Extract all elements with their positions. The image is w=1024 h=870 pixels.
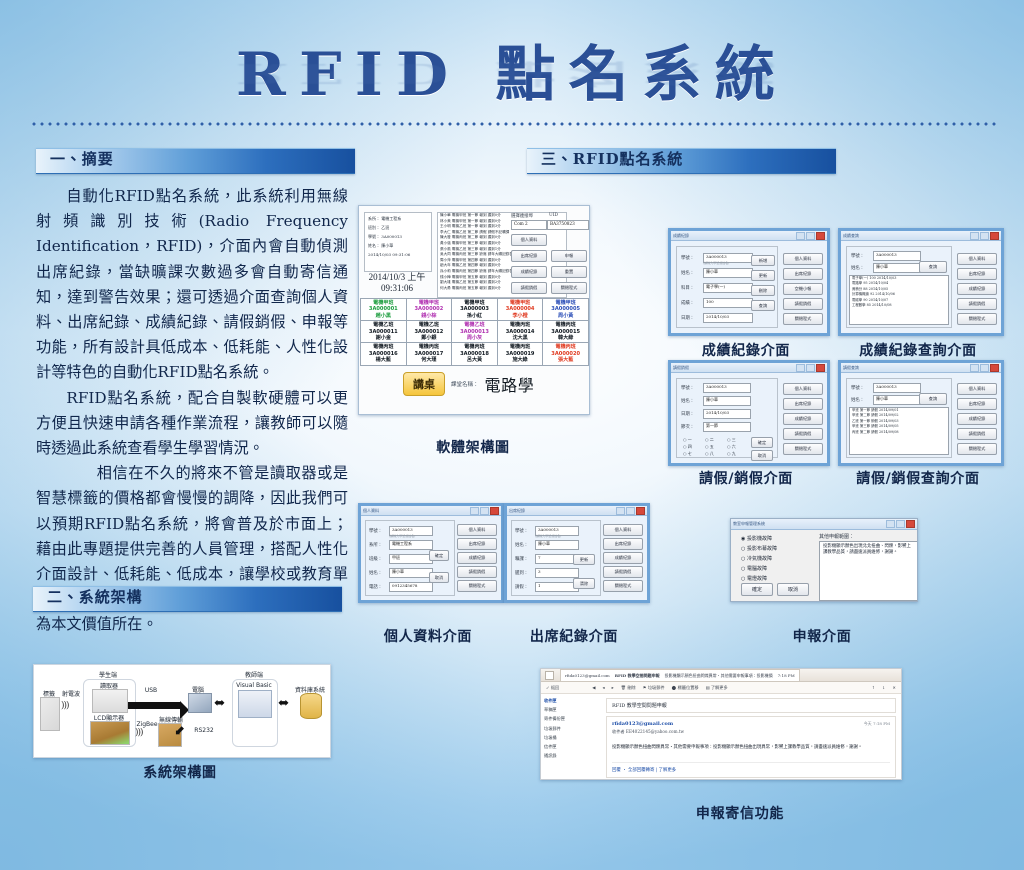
- dialog-button[interactable]: 關閉程式: [457, 580, 497, 592]
- field-label: 班級：: [369, 556, 382, 562]
- field-label: 曠課：: [515, 556, 528, 562]
- arch-label-student-side: 學生端: [84, 670, 132, 679]
- port-value: Com 2: [514, 221, 528, 226]
- mail-received: 今天 7:18 PM: [864, 721, 890, 727]
- dialog-button[interactable]: 個人資料: [603, 524, 643, 536]
- maximize-icon: [480, 507, 489, 515]
- field-label: 學號：: [851, 385, 864, 391]
- new-tab-icon[interactable]: [545, 671, 554, 680]
- result-row: 丙班 第二節 請假 2014/09/08: [850, 430, 948, 435]
- field-hint: (請輸入學號或姓名): [389, 534, 415, 538]
- field-hint: (請輸入學號或姓名): [535, 534, 561, 538]
- student-card[interactable]: 電機乙班3A000012鄭小銀: [407, 321, 453, 343]
- field-label: 姓名：: [369, 570, 382, 576]
- field-label: 學號：: [515, 528, 528, 534]
- back-button[interactable]: ↙ 返回: [546, 685, 559, 691]
- mail-sidebar[interactable]: 收件匣草稿匣寄件備份匣垃圾郵件垃圾桶信件匣通訊錄: [541, 694, 601, 780]
- report-option[interactable]: ◉ 投影機故障: [741, 535, 772, 542]
- dialog-button[interactable]: 出席紀錄: [783, 398, 823, 410]
- dialog-button[interactable]: 清除: [573, 578, 595, 589]
- dialog-button[interactable]: 空機小報: [783, 283, 823, 295]
- mail-tabbar: rfida0123@gmail.com RFID 教學空間問題申報 投影機顯示顏…: [541, 669, 901, 682]
- radio-option[interactable]: ○ 五: [705, 444, 714, 450]
- uid-field: BA3750823: [547, 220, 589, 230]
- student-card-line: 李小橙: [498, 313, 543, 319]
- field-label: 系所：: [369, 542, 382, 548]
- report-titlebar: 教室申報管理系統: [731, 519, 917, 530]
- report-cancel-button[interactable]: 取消: [777, 583, 809, 596]
- student-card[interactable]: 電機丙班3A000020張大藍: [543, 343, 589, 365]
- field-input[interactable]: 陳小華: [873, 395, 921, 405]
- caption-personal-data: 個人資料介面: [368, 626, 488, 646]
- radio-option[interactable]: ○ 四: [683, 444, 692, 450]
- rfid-tag-image: [40, 697, 60, 731]
- student-card[interactable]: 電機丙班3A000017何大瑾: [407, 343, 453, 365]
- mail-sidebar-item[interactable]: 寄件備份匣: [544, 716, 598, 722]
- mail-toolbar: ↙ 返回 ◀ ◂ ▸ 🗑 刪除 ⚑ 垃圾郵件 ⬤ 標籤位置移 ▤ 了解更多 ↑ …: [541, 682, 901, 694]
- dialog-button[interactable]: 出席紀錄: [957, 268, 997, 280]
- field-label: 學號：: [851, 253, 864, 259]
- dialog-button[interactable]: 新增: [751, 255, 775, 266]
- dialog-button[interactable]: 成績紀錄: [603, 552, 643, 564]
- scroll-down-icon[interactable]: ↓: [882, 685, 886, 690]
- caption-mail-function: 申報寄信功能: [660, 803, 820, 823]
- dialog-button[interactable]: 個人資料: [783, 383, 823, 395]
- dialog-button[interactable]: 關閉程式: [603, 580, 643, 592]
- dialog-button[interactable]: 請假銷假: [783, 428, 823, 440]
- attendance-title: 出席紀錄: [509, 508, 525, 514]
- minimize-icon: [886, 520, 895, 528]
- field-label: 姓名：: [851, 265, 864, 271]
- close-icon: [490, 507, 499, 515]
- window-controls[interactable]: [616, 507, 645, 515]
- report-confirm-button[interactable]: 確定: [741, 583, 773, 596]
- button-personal-data[interactable]: 個人資料: [511, 234, 547, 246]
- close-icon: [816, 364, 825, 372]
- caption-leave: 請假/銷假介面: [678, 468, 814, 488]
- dialog-button[interactable]: 關閉程式: [783, 443, 823, 455]
- nav-next-icon[interactable]: ▸: [612, 685, 614, 690]
- report-title: 教室申報管理系統: [733, 521, 765, 527]
- arch-label-radio-wave: 射電波: [58, 689, 84, 698]
- student-info-panel: 系所： 電機工程系班別： 乙班學號： 3A000013姓名： 陳小華2014/1…: [364, 212, 432, 272]
- vb-database-arrow: ⬌: [278, 697, 289, 710]
- student-card[interactable]: 電機丙班3A000016楊大藍: [361, 343, 407, 365]
- field-hint: (請輸入學號或姓名): [703, 261, 729, 265]
- report-note-textarea[interactable]: 投影機顯示顏色出現北北扭曲、閃爍，影響上課教學品質，請盡速派員維修，謝謝。: [819, 541, 918, 601]
- dialog-button[interactable]: 出席紀錄: [783, 268, 823, 280]
- window-controls[interactable]: [796, 232, 825, 240]
- student-card-line: 錢小棕: [407, 313, 452, 319]
- dialog-button[interactable]: 成績紀錄: [783, 413, 823, 425]
- field-input[interactable]: 陳小華: [703, 396, 751, 406]
- maximize-icon: [980, 364, 989, 372]
- field-input[interactable]: 3A000013: [873, 383, 921, 393]
- maximize-icon: [626, 507, 635, 515]
- dialog-button[interactable]: 關閉程式: [783, 313, 823, 325]
- student-card-line: 孫小紅: [452, 313, 497, 319]
- dialog-button[interactable]: 出席紀錄: [603, 538, 643, 550]
- delete-button[interactable]: 🗑 刪除: [621, 685, 636, 691]
- field-input[interactable]: 陳小華: [873, 263, 921, 273]
- report-option[interactable]: ○ 電燈故障: [741, 575, 767, 582]
- usb-arrow: [128, 702, 180, 709]
- close-icon: [816, 232, 825, 240]
- leave-query-titlebar: 請假查詢: [841, 363, 1001, 373]
- reply-link[interactable]: 回覆: [612, 768, 621, 773]
- field-input[interactable]: 陳小華: [389, 568, 433, 578]
- leave-titlebar: 請假銷假: [671, 363, 827, 373]
- window-controls[interactable]: [886, 520, 915, 528]
- leave-title: 請假銷假: [673, 365, 689, 371]
- lcd-module-image: [90, 721, 130, 745]
- report-note-value: 投影機顯示顏色出現北北扭曲、閃爍，影響上課教學品質，請盡速派員維修，謝謝。: [823, 544, 911, 555]
- personal-title: 個人資料: [363, 508, 379, 514]
- attendance-record-screenshot: 出席紀錄 學號：3A000013(請輸入學號或姓名)姓名：陳小華曠課：7遲到：3…: [504, 503, 650, 603]
- radio-option[interactable]: ○ 八: [705, 451, 714, 457]
- button-reset[interactable]: 重置: [551, 266, 587, 278]
- caption-system-architecture: 系統架構圖: [110, 762, 250, 782]
- field-label: 學號：: [369, 528, 382, 534]
- student-card-line: 鄭小銀: [407, 335, 452, 341]
- field-label: 姓名：: [851, 397, 864, 403]
- field-label: 遲到：: [515, 570, 528, 576]
- maximize-icon: [806, 232, 815, 240]
- dialog-button[interactable]: 取消: [751, 450, 773, 461]
- info-line: 班別： 乙班: [368, 225, 431, 231]
- dialog-button[interactable]: 個人資料: [783, 253, 823, 265]
- info-line: 姓名： 陳小華: [368, 243, 431, 249]
- student-card[interactable]: 電機甲班3A000004李小橙: [498, 299, 544, 321]
- caption-software-architecture: 軟體架構圖: [413, 437, 533, 457]
- mail-subject-text: RFID 教學空間問題申報: [612, 703, 667, 709]
- info-line: 系所： 電機工程系: [368, 216, 431, 222]
- field-input[interactable]: 第一節: [703, 422, 751, 432]
- port-select[interactable]: Com 2: [511, 220, 547, 230]
- computer-image: [188, 693, 212, 713]
- label-move-button[interactable]: ⬤ 標籤位置移: [672, 685, 699, 691]
- field-input[interactable]: 2014/10/03: [703, 313, 753, 323]
- close-icon: [990, 232, 999, 240]
- dialog-button[interactable]: 關閉程式: [957, 313, 997, 325]
- radio-wave-icon: ))): [61, 701, 69, 711]
- button-grade-record[interactable]: 成績紀錄: [511, 266, 547, 278]
- grade-record-titlebar: 成績紀錄: [671, 231, 827, 241]
- caption-grade-record: 成績紀錄介面: [686, 340, 806, 360]
- grade-query-title: 成績查詢: [843, 233, 859, 239]
- maximize-icon: [896, 520, 905, 528]
- grade-record-screenshot: 成績紀錄 學號：3A000013(請輸入學號或姓名)姓名：陳小華科目：電子學(一…: [668, 228, 830, 336]
- reply-all-link[interactable]: 全部回覆轉寄: [628, 768, 654, 773]
- field-input[interactable]: 電子學(一): [703, 283, 753, 293]
- minimize-icon: [470, 507, 479, 515]
- poster-title: RFID 點名系統: [0, 26, 1024, 113]
- field-input[interactable]: 電機工程系: [389, 540, 433, 550]
- caption-report: 申報介面: [762, 626, 882, 646]
- abstract-paragraph-2: RFID點名系統，配合自製軟硬體可以更方便且快速申請各種作業流程，讓教師可以隨時…: [36, 386, 348, 462]
- grade-query-titlebar: 成績查詢: [841, 231, 1001, 241]
- dialog-button[interactable]: 請假銷假: [603, 566, 643, 578]
- mail-tab[interactable]: rfida0123@gmail.com RFID 教學空間問題申報 投影機顯示顏…: [560, 669, 800, 681]
- title-divider: [30, 122, 996, 126]
- window-controls[interactable]: [970, 232, 999, 240]
- nav-prev-icon[interactable]: ◂: [602, 685, 604, 690]
- radio-option[interactable]: ○ 九: [727, 451, 736, 457]
- close-icon[interactable]: ✕: [892, 685, 896, 690]
- field-label: 姓名：: [515, 542, 528, 548]
- window-controls[interactable]: [796, 364, 825, 372]
- dialog-button[interactable]: 更新: [573, 554, 595, 565]
- student-card-grid: 電機甲班3A000001趙小黑電機甲班3A000002錢小棕電機甲班3A0000…: [360, 298, 589, 366]
- podium-row: 講桌 課堂名稱： 電路學: [403, 372, 534, 396]
- dialog-button[interactable]: 個人資料: [957, 383, 997, 395]
- field-label: 學號：: [681, 255, 694, 261]
- caption-attendance-record: 出席紀錄介面: [514, 626, 634, 646]
- dialog-button[interactable]: 請假銷假: [957, 298, 997, 310]
- mail-tab-preview: 投影機顯示顏色扭曲閃爍異常・其他需要申報事項：投影機損: [665, 673, 773, 679]
- more-button[interactable]: ▤ 了解更多: [706, 685, 728, 691]
- minimize-icon: [970, 364, 979, 372]
- abstract-paragraph-1: 自動化RFID點名系統，此系統利用無線射頻識別技術(Radio Frequenc…: [36, 184, 348, 386]
- close-icon: [906, 520, 915, 528]
- visual-basic-screen-image: [238, 690, 272, 718]
- dialog-button[interactable]: 確定: [751, 437, 773, 448]
- dialog-button[interactable]: 更新: [751, 270, 775, 281]
- dialog-button[interactable]: 個人資料: [457, 524, 497, 536]
- student-card-line: 韓大綠: [543, 335, 588, 341]
- field-input[interactable]: 3: [535, 568, 579, 578]
- field-input[interactable]: 陳小華: [703, 268, 753, 278]
- dialog-button[interactable]: 查詢: [751, 300, 775, 311]
- student-card-line: 何大瑾: [407, 357, 452, 363]
- system-architecture-diagram: 學生端 標籤 射電波 ))) 讀取器 LCD顯示器 ZigBee ))) 無線傳…: [33, 664, 331, 758]
- field-label: 日期：: [681, 411, 694, 417]
- mail-sidebar-item[interactable]: 垃圾桶: [544, 735, 598, 741]
- dialog-button[interactable]: 成績紀錄: [957, 283, 997, 295]
- student-card-line: 楊大藍: [361, 357, 406, 363]
- more-link[interactable]: 了解更多: [659, 768, 677, 773]
- student-card[interactable]: 電機乙班3A000013周小灰: [452, 321, 498, 343]
- leave-query-title: 請假查詢: [843, 365, 859, 371]
- clock-date: 2014/10/3 上午: [362, 272, 432, 283]
- class-name-label: 課堂名稱：: [451, 380, 479, 388]
- personal-titlebar: 個人資料: [361, 506, 501, 516]
- window-controls[interactable]: [970, 364, 999, 372]
- button-close-program[interactable]: 關閉程式: [551, 282, 587, 294]
- section-heading-system: 三、RFID點名系統: [527, 148, 836, 174]
- field-label: 節次：: [681, 424, 694, 430]
- mail-subject: RFID 教學空間問題申報: [606, 698, 896, 713]
- student-card-line: 謝小金: [361, 335, 406, 341]
- student-card[interactable]: 電機乙班3A000011謝小金: [361, 321, 407, 343]
- section-heading-architecture-label: 二、系統架構: [47, 588, 142, 606]
- radio-option[interactable]: ○ 二: [705, 437, 714, 443]
- field-input[interactable]: 2014/10/03: [703, 409, 751, 419]
- mail-sidebar-item[interactable]: 垃圾郵件: [544, 726, 598, 732]
- mail-sidebar-item[interactable]: 收件匣: [544, 698, 598, 704]
- field-label: 學號：: [681, 385, 694, 391]
- minimize-icon: [970, 232, 979, 240]
- field-label: 科目：: [681, 285, 694, 291]
- uid-label: UID: [549, 213, 558, 218]
- radio-option[interactable]: ○ 三: [727, 437, 736, 443]
- leave-screenshot: 請假銷假 學號：3A000013姓名：陳小華日期：2014/10/03節次：第一…: [668, 360, 830, 466]
- student-card-line: 施大綠: [498, 357, 543, 363]
- leave-query-results[interactable]: 甲班 第一節 請假 2014/09/01甲班 第二節 請假 2014/09/02…: [849, 407, 949, 455]
- clock-time: 09:31:06: [362, 283, 432, 294]
- result-row: 工程數學 85 2014/10/08: [850, 303, 948, 308]
- spam-button[interactable]: ⚑ 垃圾郵件: [643, 685, 665, 691]
- field-label: 姓名：: [681, 398, 694, 404]
- student-card[interactable]: 電機甲班3A000003孫小紅: [452, 299, 498, 321]
- student-card[interactable]: 電機丙班3A000014沈大黑: [498, 321, 544, 343]
- field-input[interactable]: 陳小華: [535, 540, 579, 550]
- dialog-button[interactable]: 刪除: [751, 285, 775, 296]
- report-screenshot: 教室申報管理系統 ◉ 投影機故障○ 投影布幕故障○ 冷氣機故障○ 電腦故障○ 電…: [730, 518, 918, 602]
- computer-vb-arrow: ⬌: [214, 697, 225, 710]
- dialog-button[interactable]: 出席紀錄: [457, 538, 497, 550]
- student-card[interactable]: 電機丙班3A000019施大綠: [498, 343, 544, 365]
- maximize-icon: [980, 232, 989, 240]
- report-option[interactable]: ○ 冷氣機故障: [741, 555, 772, 562]
- mail-footer-links[interactable]: 回覆 ・ 全部回覆轉寄 | 了解更多: [612, 762, 890, 773]
- field-input[interactable]: 甲班: [389, 554, 433, 564]
- port-label: 選擇連接埠: [511, 213, 533, 219]
- database-image: [300, 693, 322, 719]
- caption-leave-query: 請假/銷假查詢介面: [848, 468, 988, 488]
- mail-main: RFID 教學空間問題申報 rfida0123@gmail.com 今天 7:1…: [601, 694, 901, 780]
- maximize-icon: [806, 364, 815, 372]
- student-card[interactable]: 電機甲班3A000001趙小黑: [361, 299, 407, 321]
- close-icon: [990, 364, 999, 372]
- field-label: 請假：: [515, 584, 528, 590]
- dialog-button[interactable]: 確定: [429, 550, 449, 561]
- grade-record-title: 成績紀錄: [673, 233, 689, 239]
- button-attendance-record[interactable]: 出席紀錄: [511, 250, 547, 262]
- grade-query-screenshot: 成績查詢 學號：3A000013姓名：陳小華 電子學(一) 100 2014/1…: [838, 228, 1004, 336]
- mail-tab-time: 7:18 PM: [778, 673, 795, 678]
- student-card[interactable]: 電機丙班3A000015韓大綠: [543, 321, 589, 343]
- radio-option[interactable]: ○ 六: [727, 444, 736, 450]
- arch-label-teacher-side: 教師端: [230, 670, 278, 679]
- grade-query-results[interactable]: 電子學(一) 100 2014/10/03電路學 95 2014/10/04微積…: [849, 275, 949, 325]
- mail-to: 收件者 EE4022145@yahoo.com.tw: [612, 729, 890, 735]
- abstract-body: 自動化RFID點名系統，此系統利用無線射頻識別技術(Radio Frequenc…: [36, 184, 348, 638]
- report-option[interactable]: ○ 電腦故障: [741, 565, 767, 572]
- field-label: 電話：: [369, 584, 382, 590]
- personal-data-screenshot: 個人資料 學號：3A000013(請輸入學號或姓名)系所：電機工程系班級：甲班姓…: [358, 503, 504, 603]
- student-card-line: 沈大黑: [498, 335, 543, 341]
- mail-tab-subject: RFID 教學空間問題申報: [615, 673, 660, 679]
- clock-display: 2014/10/3 上午 09:31:06: [362, 272, 432, 294]
- nav-first-icon[interactable]: ◀: [592, 685, 595, 690]
- grade-query-search-button[interactable]: 查詢: [919, 261, 947, 273]
- student-card-line: 周小黃: [543, 313, 588, 319]
- button-report[interactable]: 申報: [551, 250, 587, 262]
- button-leave[interactable]: 請假銷假: [511, 282, 547, 294]
- field-input[interactable]: 0912345678: [389, 582, 433, 592]
- field-label: 成績：: [681, 300, 694, 306]
- mail-screenshot: rfida0123@gmail.com RFID 教學空間問題申報 投影機顯示顏…: [540, 668, 902, 780]
- student-card-line: 周小灰: [452, 335, 497, 341]
- attendance-titlebar: 出席紀錄: [507, 506, 647, 516]
- mail-sidebar-item[interactable]: 草稿匣: [544, 707, 598, 713]
- mail-tab-account: rfida0123@gmail.com: [565, 673, 610, 678]
- field-label: 姓名：: [681, 270, 694, 276]
- student-card-line: 張大藍: [543, 357, 588, 363]
- mail-sidebar-item[interactable]: 信件匣: [544, 744, 598, 750]
- student-card[interactable]: 電機甲班3A000002錢小棕: [407, 299, 453, 321]
- report-note-label: 其他申報範圍：: [819, 533, 854, 540]
- arch-label-rs232: RS232: [192, 727, 216, 734]
- close-icon: [636, 507, 645, 515]
- radio-option[interactable]: ○ 七: [683, 451, 692, 457]
- caption-grade-query: 成績紀錄查詢介面: [848, 340, 988, 360]
- arch-label-usb: USB: [140, 687, 162, 694]
- dialog-button[interactable]: 請假銷假: [783, 298, 823, 310]
- student-card-line: 呂大黃: [452, 357, 497, 363]
- leave-query-search-button[interactable]: 查詢: [919, 393, 947, 405]
- mail-body-text: 投影機顯示顏色扭曲閃爍異常・其他需要申報事項：投影機顯示顏色扭曲出現異常，影響上…: [612, 744, 890, 751]
- student-card[interactable]: 電機丙班3A000018呂大黃: [452, 343, 498, 365]
- rfid-reader-image: [92, 689, 128, 713]
- minimize-icon: [616, 507, 625, 515]
- student-card[interactable]: 電機甲班3A000005周小黃: [543, 299, 589, 321]
- dialog-button[interactable]: 請假銷假: [457, 566, 497, 578]
- info-line: 學號： 3A000013: [368, 234, 431, 240]
- info-line: 2014/10/03 09:31:06: [368, 252, 431, 257]
- rs232-arrow: ⬋: [174, 725, 185, 738]
- mail-body: 收件匣草稿匣寄件備份匣垃圾郵件垃圾桶信件匣通訊錄 RFID 教學空間問題申報 r…: [541, 694, 901, 780]
- section-heading-abstract: 一、摘要: [36, 148, 355, 174]
- section-heading-abstract-label: 一、摘要: [50, 150, 114, 168]
- section-heading-architecture: 二、系統架構: [33, 586, 342, 612]
- leave-query-screenshot: 請假查詢 學號：3A000013姓名：陳小華 甲班 第一節 請假 2014/09…: [838, 360, 1004, 466]
- dialog-button[interactable]: 出席紀錄: [957, 398, 997, 410]
- podium-badge: 講桌: [403, 372, 445, 396]
- window-controls[interactable]: [470, 507, 499, 515]
- zigbee-wave-icon: ))): [135, 728, 143, 738]
- mail-from: rfida0123@gmail.com: [612, 721, 673, 727]
- dialog-button[interactable]: 取消: [429, 572, 449, 583]
- report-option[interactable]: ○ 投影布幕故障: [741, 545, 777, 552]
- field-input[interactable]: 3A000013: [703, 383, 751, 393]
- dialog-button[interactable]: 關閉程式: [957, 443, 997, 455]
- mail-message-card: rfida0123@gmail.com 今天 7:18 PM 收件者 EE402…: [606, 716, 896, 778]
- dialog-button[interactable]: 成績紀錄: [957, 413, 997, 425]
- minimize-icon: [796, 232, 805, 240]
- minimize-icon: [796, 364, 805, 372]
- dialog-button[interactable]: 成績紀錄: [457, 552, 497, 564]
- scroll-up-icon[interactable]: ↑: [871, 685, 875, 690]
- class-name-value: 電路學: [485, 372, 535, 396]
- dialog-button[interactable]: 請假銷假: [957, 428, 997, 440]
- section-heading-system-label: 三、RFID點名系統: [541, 150, 683, 168]
- student-card-line: 趙小黑: [361, 313, 406, 319]
- field-input[interactable]: 3A000013: [873, 251, 921, 261]
- dialog-button[interactable]: 個人資料: [957, 253, 997, 265]
- arch-label-visual-basic: Visual Basic: [233, 682, 275, 689]
- field-input[interactable]: 100: [703, 298, 753, 308]
- radio-option[interactable]: ○ 一: [683, 437, 692, 443]
- mail-sidebar-item[interactable]: 通訊錄: [544, 753, 598, 759]
- attendance-main-screenshot: 系所： 電機工程系班別： 乙班學號： 3A000013姓名： 陳小華2014/1…: [358, 205, 590, 415]
- uid-value: BA3750823: [550, 221, 575, 226]
- field-label: 日期：: [681, 315, 694, 321]
